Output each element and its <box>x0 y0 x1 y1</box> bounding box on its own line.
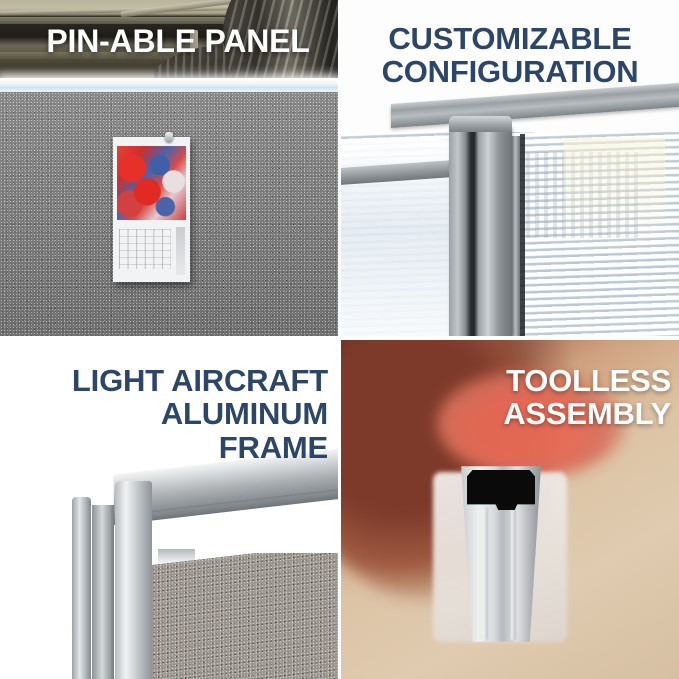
panel-customizable-configuration: CUSTOMIZABLE CONFIGURATION <box>341 0 679 336</box>
calendar-date-grid <box>119 229 171 269</box>
aluminum-frame-corner-photo <box>72 475 338 679</box>
panel-toolless-assembly: TOOLLESS ASSEMBLY <box>341 340 679 679</box>
panel-light-aircraft-aluminum-frame: LIGHT AIRCRAFT ALUMINUM FRAME <box>0 340 338 679</box>
frame-post-middle <box>92 505 114 679</box>
caption-pin-able-panel: PIN-ABLE PANEL <box>30 24 326 59</box>
post-cap-icon <box>449 116 512 132</box>
blinds-daylight-glow <box>564 138 665 258</box>
aluminum-corner-post <box>449 128 512 336</box>
calendar-month-label <box>176 227 185 275</box>
push-pin-icon <box>165 132 173 142</box>
caption-customizable-configuration: CUSTOMIZABLE CONFIGURATION <box>349 22 671 89</box>
frame-post-outer <box>72 497 91 679</box>
caption-toolless-assembly: TOOLLESS ASSEMBLY <box>359 364 671 431</box>
fabric-infill-panel <box>152 553 338 679</box>
calendar-artwork <box>117 146 186 220</box>
wall-calendar <box>113 137 190 282</box>
aluminum-extrusion-profile <box>455 458 547 642</box>
frame-corner-joint <box>158 549 195 563</box>
glass-edge-gasket <box>520 134 525 336</box>
vertical-mullion <box>511 136 520 336</box>
panel-pin-able-panel: PIN-ABLE PANEL <box>0 0 338 336</box>
product-feature-collage: PIN-ABLE PANEL CUSTOMIZABLE CONFIGURATIO… <box>0 0 679 679</box>
caption-light-aircraft-aluminum-frame: LIGHT AIRCRAFT ALUMINUM FRAME <box>12 364 328 464</box>
extrusion-rib-left <box>483 508 488 640</box>
frame-post-corner <box>115 481 152 679</box>
extrusion-rib-right <box>511 508 516 640</box>
extrusion-channel-slot <box>467 470 535 510</box>
